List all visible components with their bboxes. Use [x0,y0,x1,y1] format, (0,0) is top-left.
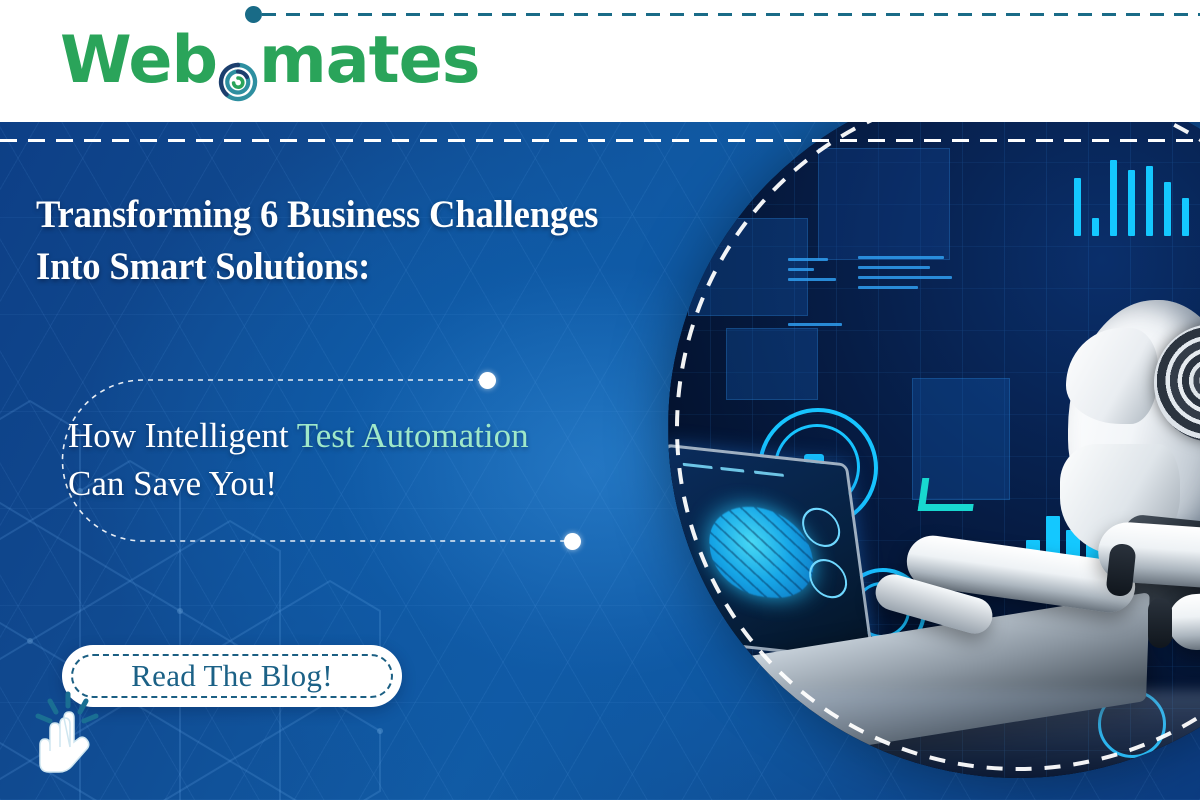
laptop-icon [668,444,875,663]
hud-code-line [788,258,828,261]
spiral-o-icon [218,46,258,86]
logo-text-part-2: mates [259,26,479,96]
bar-chart-icon [1128,170,1135,236]
hero-image-circle: 000 01 [668,78,1200,778]
hud-code-line [858,266,930,269]
bracket-bottom-dot-icon [564,533,581,550]
subheading-line-1: How Intelligent Test Automation [68,412,668,460]
subheading-accent: Test Automation [297,416,529,455]
hud-code-line [858,256,944,259]
hud-code-line [858,286,918,289]
laptop-code-line [683,463,713,469]
cta-dashed-border: Read The Blog! [71,654,393,698]
headline-line-2: Into Smart Solutions: [36,241,732,293]
laptop-ring-icon [807,557,850,600]
headline-line-1: Transforming 6 Business Challenges [36,189,732,241]
subheading-line-2: Can Save You! [68,460,668,508]
digital-brain-icon [703,501,818,602]
bar-chart-icon [1092,218,1099,236]
bracket-top-dot-icon [479,372,496,389]
bar-chart-icon [1110,160,1117,236]
bar-chart-icon [1146,166,1153,236]
cta-label: Read The Blog! [131,658,333,694]
bar-chart-icon [1074,178,1081,236]
subheading-prefix: How Intelligent [68,416,297,455]
page-title: Transforming 6 Business Challenges Into … [36,189,732,293]
hud-panel [818,148,950,260]
hud-code-line [788,323,842,326]
header-dot-icon [245,6,262,23]
hud-panel [726,328,818,400]
hud-code-line [788,278,836,281]
top-dashed-divider [0,139,1200,142]
laptop-code-line [720,467,744,473]
bar-chart-icon [1164,182,1171,236]
desk-reflection [668,690,1200,778]
header-dashed-line-icon [262,13,1200,16]
checkmark-arrow-icon [918,478,978,511]
laptop-code-line [754,471,784,477]
logo-text-part-1: Web [60,26,217,96]
bar-chart-icon [1182,198,1189,236]
subheading-text: How Intelligent Test Automation Can Save… [68,412,668,508]
robot-joint-icon [1148,598,1172,648]
hud-code-line [858,276,952,279]
webomates-logo[interactable]: Web mates [60,26,479,96]
hand-pointer-click-icon [22,688,114,780]
promo-banner: 000 01 [0,0,1200,800]
subheading-block: How Intelligent Test Automation Can Save… [38,368,658,553]
hud-code-line [788,268,814,271]
